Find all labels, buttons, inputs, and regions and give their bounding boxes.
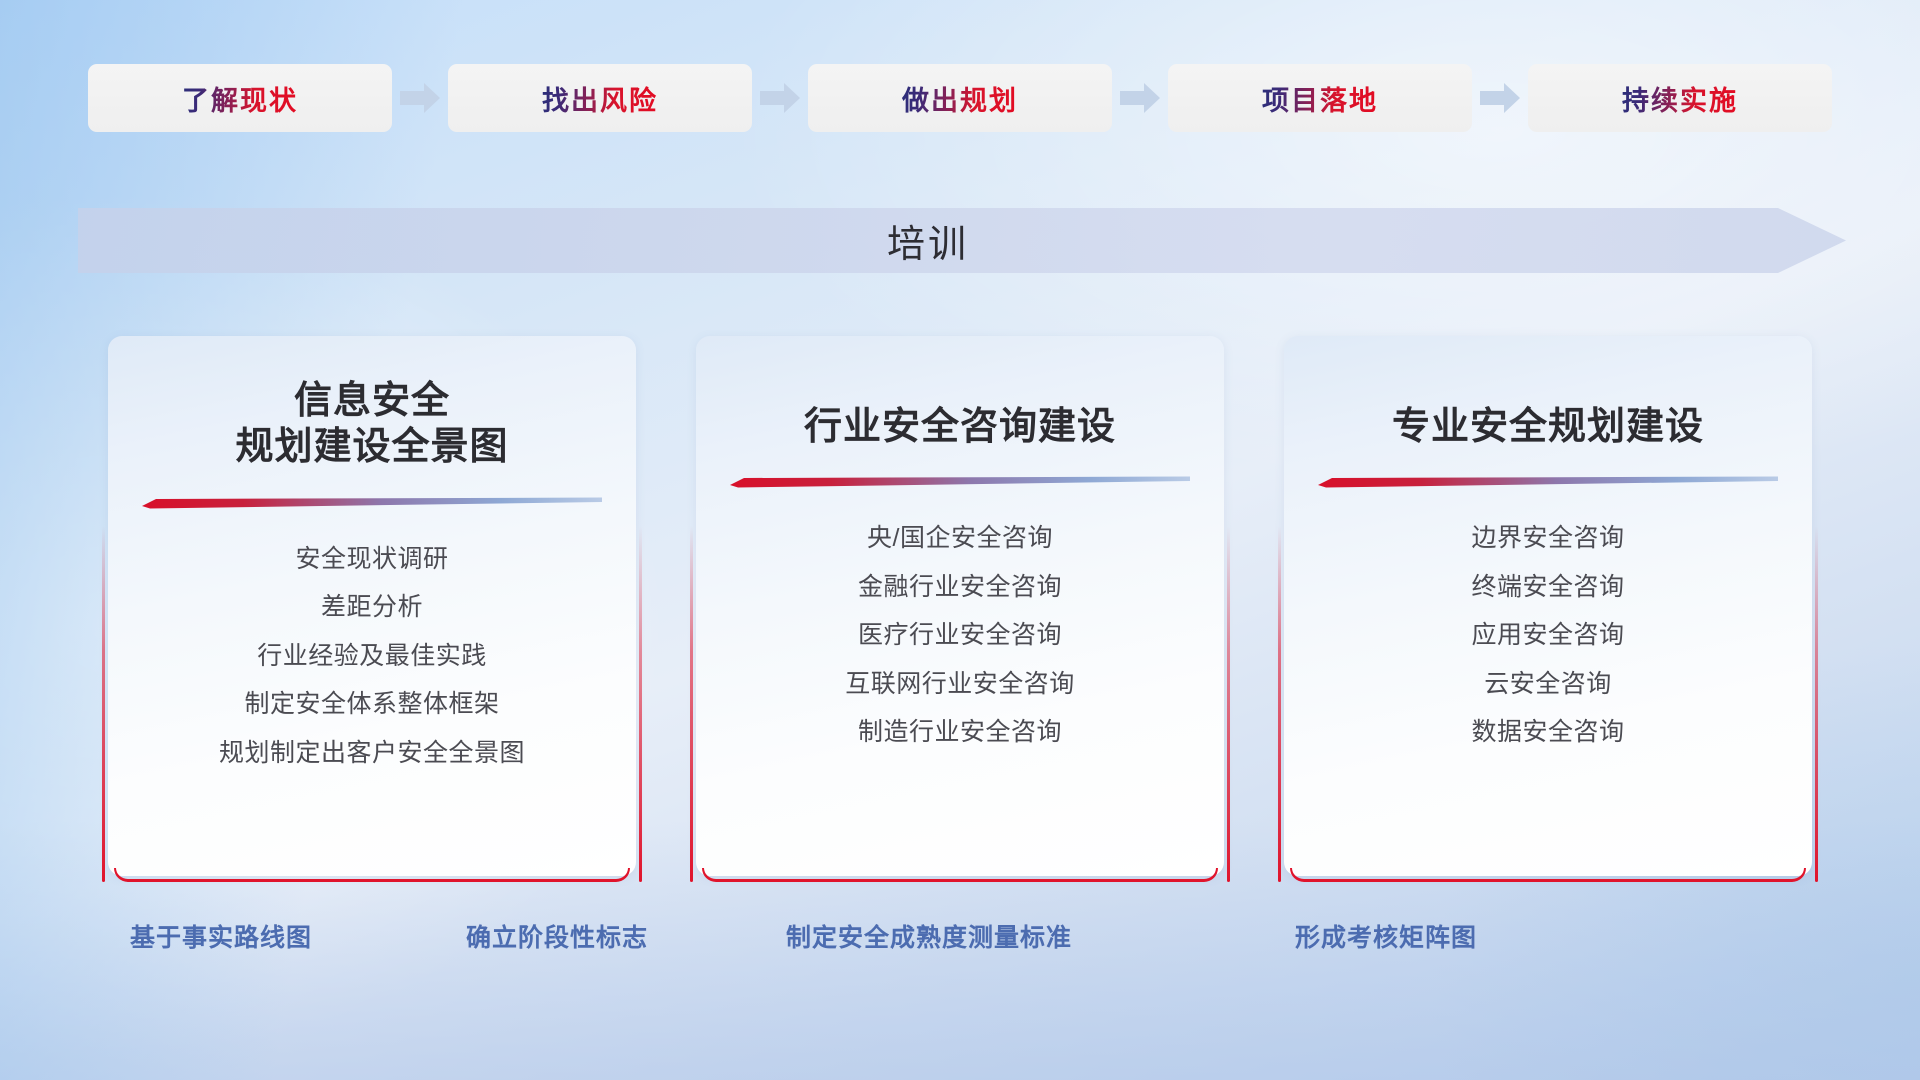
card-title-line: 专业安全规划建设 bbox=[1392, 404, 1704, 450]
step-box-3[interactable]: 做出规划 bbox=[808, 64, 1112, 132]
process-step-row: 了解现状 找出风险 做出规划 项目落地 持续实施 bbox=[0, 62, 1920, 134]
list-item: 规划制定出客户安全全景图 bbox=[219, 735, 525, 773]
step-label-4: 项目落地 bbox=[1262, 79, 1378, 118]
list-item: 数据安全咨询 bbox=[1471, 714, 1624, 752]
step-label-2: 找出风险 bbox=[542, 79, 658, 118]
step-label-1: 了解现状 bbox=[182, 79, 298, 118]
card-accent-left bbox=[690, 526, 693, 882]
list-item: 行业经验及最佳实践 bbox=[257, 638, 487, 676]
step-label-3: 做出规划 bbox=[902, 79, 1018, 118]
card-divider bbox=[1318, 476, 1778, 488]
arrow-right-icon bbox=[752, 77, 808, 119]
card-title-line: 信息安全 bbox=[235, 378, 508, 424]
card-row: 信息安全 规划建设全景图 bbox=[0, 336, 1920, 876]
card-list: 安全现状调研 差距分析 行业经验及最佳实践 制定安全体系整体框架 规划制定出客户… bbox=[219, 541, 525, 773]
step-box-5[interactable]: 持续实施 bbox=[1528, 64, 1832, 132]
list-item: 医疗行业安全咨询 bbox=[858, 617, 1062, 655]
step-label-5: 持续实施 bbox=[1622, 79, 1738, 118]
card-divider bbox=[142, 497, 602, 509]
card-accent-right bbox=[1227, 526, 1230, 882]
step-box-1[interactable]: 了解现状 bbox=[88, 64, 392, 132]
list-item: 安全现状调研 bbox=[295, 541, 448, 579]
training-band: 培训 bbox=[78, 208, 1846, 273]
training-label: 培训 bbox=[78, 208, 1778, 273]
footer-label-assessment-matrix: 形成考核矩阵图 bbox=[1295, 918, 1477, 954]
card-accent-left bbox=[1278, 526, 1281, 882]
list-item: 互联网行业安全咨询 bbox=[845, 666, 1075, 704]
card-accent-right bbox=[639, 526, 642, 882]
list-item: 制造行业安全咨询 bbox=[858, 714, 1062, 752]
card-accent-right bbox=[1815, 526, 1818, 882]
list-item: 差距分析 bbox=[321, 589, 423, 627]
card-divider bbox=[730, 476, 1190, 488]
card-title: 专业安全规划建设 bbox=[1392, 404, 1704, 450]
card-title: 信息安全 规划建设全景图 bbox=[235, 378, 508, 471]
card-accent-left bbox=[102, 526, 105, 882]
card-title-line: 规划建设全景图 bbox=[235, 424, 508, 470]
footer-label-roadmap: 基于事实路线图 bbox=[130, 918, 312, 954]
footer-label-milestones: 确立阶段性标志 bbox=[466, 918, 648, 954]
arrow-right-icon bbox=[1472, 77, 1528, 119]
card-info-security-blueprint[interactable]: 信息安全 规划建设全景图 bbox=[108, 336, 636, 876]
list-item: 应用安全咨询 bbox=[1471, 617, 1624, 655]
list-item: 央/国企安全咨询 bbox=[867, 520, 1053, 558]
list-item: 金融行业安全咨询 bbox=[858, 569, 1062, 607]
step-box-4[interactable]: 项目落地 bbox=[1168, 64, 1472, 132]
arrow-right-icon bbox=[392, 77, 448, 119]
card-list: 边界安全咨询 终端安全咨询 应用安全咨询 云安全咨询 数据安全咨询 bbox=[1471, 520, 1624, 752]
footer-label-maturity-standard: 制定安全成熟度测量标准 bbox=[786, 918, 1072, 954]
list-item: 制定安全体系整体框架 bbox=[244, 686, 499, 724]
card-title: 行业安全咨询建设 bbox=[804, 404, 1116, 450]
footer-label-row: 基于事实路线图 确立阶段性标志 制定安全成熟度测量标准 形成考核矩阵图 bbox=[0, 918, 1920, 968]
card-professional-security-planning[interactable]: 专业安全规划建设 边界安 bbox=[1284, 336, 1812, 876]
card-industry-security-consulting[interactable]: 行业安全咨询建设 央/国 bbox=[696, 336, 1224, 876]
list-item: 边界安全咨询 bbox=[1471, 520, 1624, 558]
step-box-2[interactable]: 找出风险 bbox=[448, 64, 752, 132]
arrow-right-icon bbox=[1112, 77, 1168, 119]
list-item: 终端安全咨询 bbox=[1471, 569, 1624, 607]
card-title-line: 行业安全咨询建设 bbox=[804, 404, 1116, 450]
list-item: 云安全咨询 bbox=[1484, 666, 1612, 704]
card-list: 央/国企安全咨询 金融行业安全咨询 医疗行业安全咨询 互联网行业安全咨询 制造行… bbox=[845, 520, 1075, 752]
